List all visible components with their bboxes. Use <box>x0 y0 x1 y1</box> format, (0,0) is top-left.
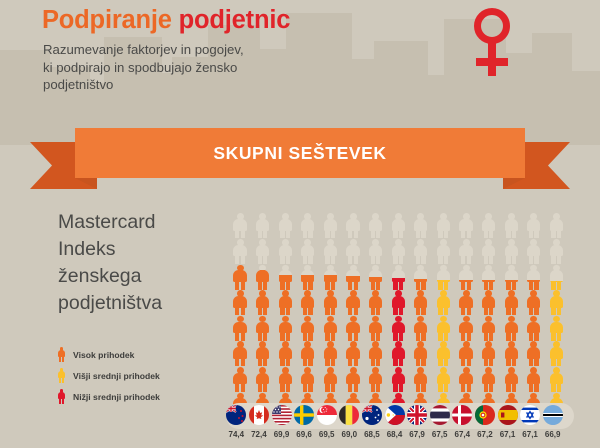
pictogram-figure <box>254 264 272 290</box>
female-figure-icon <box>57 347 66 362</box>
value-label: 67,1 <box>519 430 541 439</box>
pictogram-figure <box>276 290 294 316</box>
flag-icon-thailand <box>430 405 450 425</box>
pictogram-figure <box>525 341 543 367</box>
pictogram-figure <box>547 239 565 265</box>
flag-icon-portugal <box>475 405 495 425</box>
section-ribbon: SKUPNI SEŠTEVEK <box>0 128 600 194</box>
pictogram-figure <box>457 290 475 316</box>
pictogram-figure <box>389 315 407 341</box>
pictogram-figure <box>502 341 520 367</box>
legend-item-lower-middle: Nižji srednji prihodek <box>57 386 237 407</box>
pictogram-figure <box>344 213 362 239</box>
pictogram-figure <box>547 315 565 341</box>
pictogram-figure <box>412 341 430 367</box>
page-subtitle: Razumevanje faktorjev in pogojev, ki pod… <box>43 41 244 94</box>
female-figure-icon <box>57 389 66 404</box>
flag-icon-new-zealand <box>226 405 246 425</box>
pictogram-figure <box>547 290 565 316</box>
pictogram-figure <box>547 213 565 239</box>
pictogram-figure <box>276 239 294 265</box>
flag-icon-denmark <box>452 405 472 425</box>
title-part-one: Podpiranje <box>42 6 172 34</box>
pictogram-figure <box>276 315 294 341</box>
pictogram-figure <box>434 239 452 265</box>
value-label: 67,1 <box>497 430 519 439</box>
pictogram-figure <box>457 213 475 239</box>
pictogram-figure <box>321 367 339 393</box>
pictogram-figure <box>525 367 543 393</box>
value-label: 68,4 <box>384 430 406 439</box>
pictogram-figure <box>254 367 272 393</box>
pictogram-figure <box>480 213 498 239</box>
pictogram-figure <box>231 341 249 367</box>
pictogram-figure <box>344 341 362 367</box>
pictogram-figure <box>434 264 452 290</box>
flag-icon-belgium <box>339 405 359 425</box>
pictogram-figure <box>412 239 430 265</box>
venus-ring <box>474 8 510 44</box>
pictogram-figure <box>434 290 452 316</box>
value-label: 67,9 <box>406 430 428 439</box>
infographic-canvas: Podpiranje podjetnic Razumevanje faktorj… <box>0 0 600 448</box>
value-label: 67,4 <box>451 430 473 439</box>
value-row: 74,472,469,969,669,569,068,568,467,967,5… <box>226 430 574 444</box>
pictogram-figure <box>344 239 362 265</box>
flag-icon-spain <box>498 405 518 425</box>
pictogram-figure <box>502 367 520 393</box>
pictogram-figure <box>389 264 407 290</box>
pictogram-figure <box>525 213 543 239</box>
value-label: 72,4 <box>248 430 270 439</box>
pictogram-figure <box>254 239 272 265</box>
pictogram-figure <box>502 239 520 265</box>
pictogram-figure <box>231 264 249 290</box>
venus-symbol-icon <box>468 8 524 100</box>
value-label: 67,2 <box>474 430 496 439</box>
pictogram-figure <box>547 264 565 290</box>
pictogram-figure <box>299 239 317 265</box>
section-title: Mastercard Indeks ženskega podjetništva <box>58 209 233 317</box>
pictogram-figure <box>502 290 520 316</box>
pictogram-figure <box>525 264 543 290</box>
pictogram-figure <box>502 264 520 290</box>
pictogram-figure <box>412 213 430 239</box>
flag-icon-israel <box>520 405 540 425</box>
pictogram-figure <box>344 367 362 393</box>
legend-item-label: Visok prihodek <box>73 350 134 360</box>
pictogram-figure <box>231 239 249 265</box>
flag-icon-botswana <box>543 405 563 425</box>
pictogram-figure <box>344 290 362 316</box>
pictogram-figure <box>480 341 498 367</box>
pictogram-figure <box>344 315 362 341</box>
pictogram-figure <box>389 367 407 393</box>
flag-icon-united-kingdom <box>407 405 427 425</box>
pictogram-figure <box>299 341 317 367</box>
pictogram-figure <box>276 213 294 239</box>
pictogram-figure <box>502 213 520 239</box>
value-label: 69,6 <box>293 430 315 439</box>
pictogram-figure <box>231 367 249 393</box>
pictogram-figure <box>299 264 317 290</box>
pictogram-figure <box>525 290 543 316</box>
value-label: 69,0 <box>338 430 360 439</box>
pictogram-figure <box>254 213 272 239</box>
pictogram-figure <box>367 367 385 393</box>
flag-icon-philippines <box>385 405 405 425</box>
pictogram-figure <box>480 264 498 290</box>
pictogram-figure <box>434 213 452 239</box>
ribbon-label: SKUPNI SEŠTEVEK <box>75 128 525 178</box>
flag-icon-australia <box>362 405 382 425</box>
flag-icon-singapore <box>317 405 337 425</box>
pictogram-figure <box>276 341 294 367</box>
pictogram-figure <box>276 264 294 290</box>
pictogram-figure <box>321 239 339 265</box>
legend-item-label: Nižji srednji prihodek <box>73 392 160 402</box>
value-label: 66,9 <box>542 430 564 439</box>
pictogram-figure <box>547 341 565 367</box>
pictogram-figure <box>434 315 452 341</box>
pictogram-figure <box>276 367 294 393</box>
pictogram-figure <box>254 341 272 367</box>
pictogram-figure <box>457 315 475 341</box>
pictogram-figure <box>321 315 339 341</box>
pictogram-figure <box>434 341 452 367</box>
pictogram-figure <box>254 290 272 316</box>
pictogram-figure <box>321 290 339 316</box>
legend-item-label: Višji srednji prihodek <box>73 371 160 381</box>
pictogram-figure <box>344 264 362 290</box>
legend-item-upper-middle: Višji srednji prihodek <box>57 365 237 386</box>
pictogram-figure <box>367 341 385 367</box>
pictogram-figure <box>480 239 498 265</box>
pictogram-figure <box>231 315 249 341</box>
pictogram-figure <box>367 315 385 341</box>
flag-icon-united-states <box>272 405 292 425</box>
pictogram-figure <box>231 290 249 316</box>
pictogram-figure <box>389 341 407 367</box>
pictogram-figure <box>480 367 498 393</box>
pictogram-figure <box>434 367 452 393</box>
value-label: 67,5 <box>429 430 451 439</box>
female-figure-icon <box>57 368 66 383</box>
pictogram-figure <box>299 315 317 341</box>
pictogram-figure <box>412 367 430 393</box>
pictogram-figure <box>457 239 475 265</box>
legend-item-high: Visok prihodek <box>57 344 237 365</box>
pictogram-figure <box>299 290 317 316</box>
pictogram-figure <box>457 264 475 290</box>
pictogram-figure <box>412 264 430 290</box>
pictogram-figure <box>389 239 407 265</box>
pictogram-figure <box>480 315 498 341</box>
pictogram-figure <box>525 239 543 265</box>
pictogram-figure <box>457 367 475 393</box>
pictogram-figure <box>547 367 565 393</box>
flag-icon-sweden <box>294 405 314 425</box>
pictogram-figure <box>321 264 339 290</box>
venus-crossbar <box>476 58 508 66</box>
pictogram-figure <box>389 290 407 316</box>
pictogram-figure <box>525 315 543 341</box>
pictogram-figure <box>321 341 339 367</box>
title-part-two: podjetnic <box>179 6 291 34</box>
pictogram-figure <box>389 213 407 239</box>
value-label: 74,4 <box>225 430 247 439</box>
pictogram-figure <box>299 213 317 239</box>
value-label: 69,5 <box>316 430 338 439</box>
pictogram-figure <box>367 239 385 265</box>
flag-row <box>226 405 574 427</box>
page-title: Podpiranje podjetnic <box>42 6 290 35</box>
flag-icon-canada <box>249 405 269 425</box>
pictogram-figure <box>412 315 430 341</box>
pictogram-figure <box>367 290 385 316</box>
pictogram-figure <box>321 213 339 239</box>
pictogram-figure <box>457 341 475 367</box>
pictogram-figure <box>480 290 498 316</box>
pictogram-figure <box>412 290 430 316</box>
value-label: 68,5 <box>361 430 383 439</box>
chart-legend: Visok prihodekVišji srednji prihodekNižj… <box>57 344 237 407</box>
pictogram-figure <box>367 213 385 239</box>
pictogram-figure <box>299 367 317 393</box>
value-label: 69,9 <box>271 430 293 439</box>
pictogram-figure <box>367 264 385 290</box>
pictogram-figure <box>502 315 520 341</box>
pictogram-figure <box>254 315 272 341</box>
pictogram-figure <box>231 213 249 239</box>
